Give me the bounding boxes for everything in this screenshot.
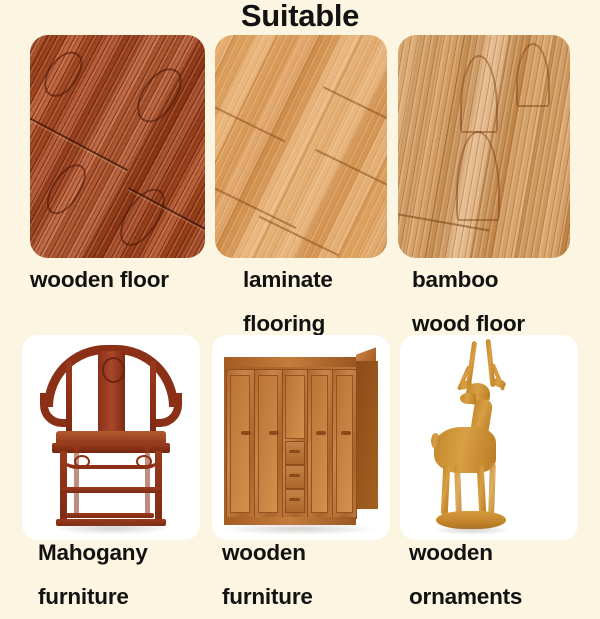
deer-muzzle <box>460 393 476 404</box>
wardrobe-drawer-handle <box>289 498 300 501</box>
plank-seam <box>323 86 387 125</box>
suitable-surfaces-infographic: Suitable wooden floor laminate flooring … <box>0 0 600 600</box>
wardrobe-door-panel <box>336 375 353 513</box>
wardrobe-door-panel <box>230 375 250 513</box>
deer-leg-rear-left <box>441 465 451 515</box>
tile-wooden-ornaments <box>400 335 578 540</box>
deer-leg-front-right <box>488 463 496 515</box>
label-mahogany-furniture: Mahogany furniture <box>38 531 218 619</box>
tile-wooden-floor <box>30 35 205 258</box>
chair-stretcher-mid <box>60 487 162 493</box>
label-wooden-furniture: wooden furniture <box>222 531 402 619</box>
wardrobe-door-panel <box>258 375 278 513</box>
tile-laminate-flooring <box>215 35 387 258</box>
wardrobe-drawer-2 <box>285 465 305 489</box>
chair-back-post-right <box>150 361 156 433</box>
wardrobe-door-handle <box>341 431 351 435</box>
tile-bamboo-wood-floor <box>398 35 570 258</box>
wardrobe-side-panel <box>356 361 378 509</box>
wardrobe-door-panel <box>311 375 328 513</box>
wood-grain-figure <box>516 43 550 107</box>
tile-mahogany-furniture <box>22 335 200 540</box>
wardrobe-drawer-handle <box>289 450 300 453</box>
plank-seam <box>259 216 339 256</box>
chair-carved-medallion <box>102 357 125 383</box>
plank-seam <box>30 117 128 171</box>
wardrobe-drawer-handle <box>289 474 300 477</box>
wood-grain-knot <box>113 181 171 253</box>
wood-grain-knot <box>40 158 91 221</box>
label-bamboo-wood-floor: bamboo wood floor <box>412 258 592 346</box>
deer-leg-front-left <box>477 465 487 515</box>
wardrobe-centre-panel <box>285 375 305 439</box>
plank-seam <box>215 187 297 229</box>
mahogany-armchair-image <box>22 335 200 540</box>
chair-seat-frame <box>52 443 170 453</box>
label-laminate-flooring: laminate flooring <box>243 258 403 346</box>
wardrobe-door-handle <box>316 431 326 435</box>
wood-grain-figure <box>460 55 498 133</box>
wood-grain-figure <box>456 131 500 221</box>
wardrobe-drawer-3 <box>285 489 305 513</box>
chair-footrail <box>66 513 154 518</box>
wardrobe-door-handle <box>241 431 251 435</box>
chair-leg-back-left <box>74 447 79 517</box>
chair-leg-back-right <box>145 447 150 517</box>
label-wooden-ornaments: wooden ornaments <box>409 531 594 619</box>
wooden-wardrobe-image <box>212 335 390 540</box>
tile-wooden-furniture <box>212 335 390 540</box>
deer-tail <box>431 433 440 449</box>
wood-grain-knot <box>38 45 88 103</box>
wardrobe-drawer-1 <box>285 441 305 465</box>
wood-grain-knot <box>130 61 188 130</box>
chair-back-post-left <box>66 361 72 433</box>
label-wooden-floor: wooden floor <box>30 258 210 302</box>
chair-arm-right <box>152 393 182 427</box>
carved-deer-ornament-image <box>400 335 578 540</box>
wardrobe-door-handle <box>269 431 279 435</box>
plank-seam <box>315 149 387 191</box>
page-title: Suitable <box>0 0 600 33</box>
plank-seam <box>215 106 285 143</box>
wardrobe-top-cornice <box>224 357 356 367</box>
